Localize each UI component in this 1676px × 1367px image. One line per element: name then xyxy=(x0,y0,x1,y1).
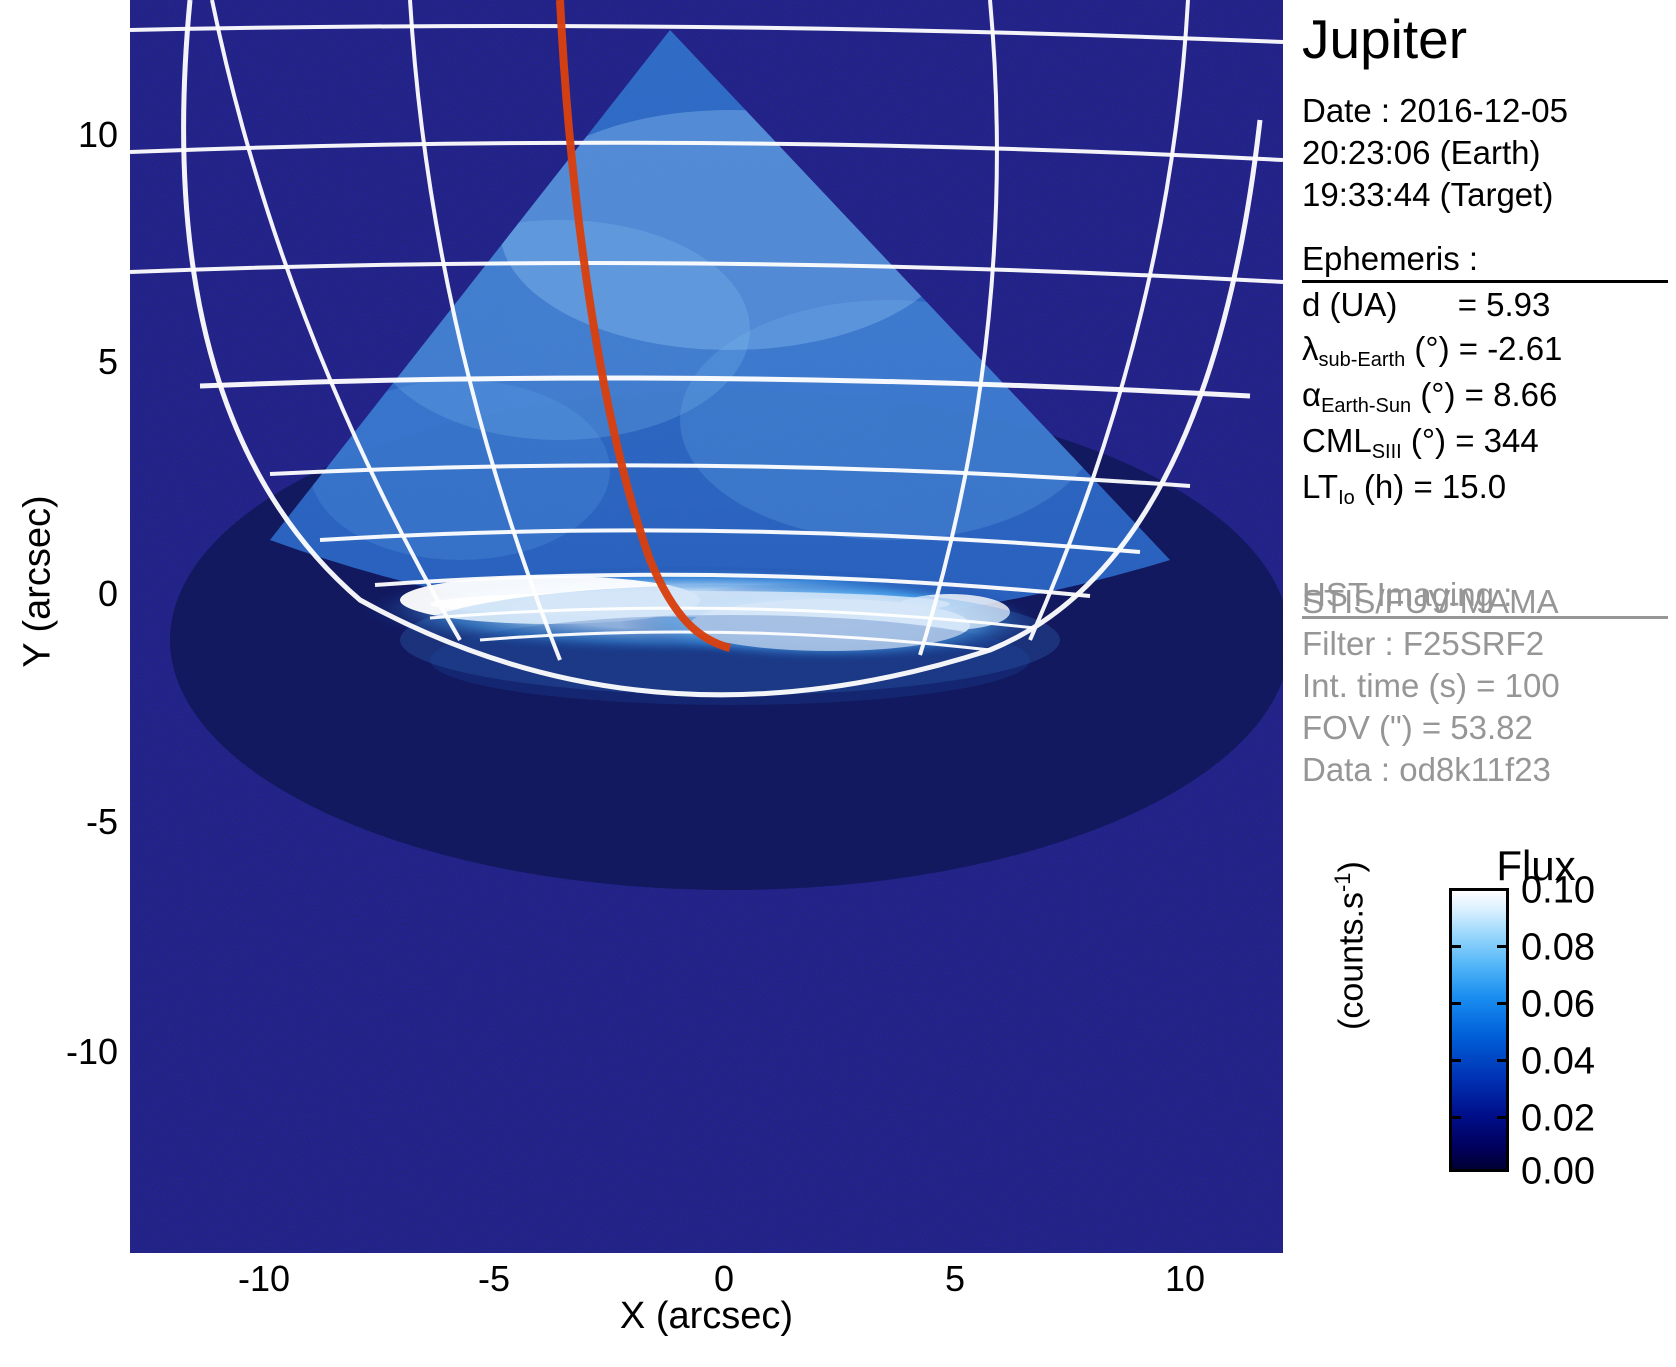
hst-field-of-view: FOV (") = 53.82 xyxy=(1302,709,1533,747)
ephemeris-subscript: Io xyxy=(1338,487,1355,509)
ephemeris-symbol: λ xyxy=(1302,330,1319,367)
colorbar-tick xyxy=(1449,945,1509,948)
aurora-image-panel xyxy=(130,0,1283,1253)
colorbar-tick-label: 0.04 xyxy=(1521,1041,1595,1084)
page-title: Jupiter xyxy=(1302,12,1467,67)
y-tick-label: 10 xyxy=(8,114,118,156)
ephemeris-heading: Ephemeris : xyxy=(1302,240,1676,278)
y-tick-label: -10 xyxy=(8,1031,118,1073)
colorbar-tick-label: 0.10 xyxy=(1521,870,1595,913)
colorbar-unit-exponent: -1 xyxy=(1330,872,1355,892)
ephemeris-unit: (°) xyxy=(1414,330,1449,367)
colorbar-tick xyxy=(1449,1059,1509,1062)
ephemeris-unit: (h) xyxy=(1364,468,1404,505)
ephemeris-value: = 15.0 xyxy=(1413,468,1506,505)
background-noise xyxy=(130,0,1283,1253)
colorbar-tick-label: 0.08 xyxy=(1521,927,1595,970)
ephemeris-value: = 8.66 xyxy=(1465,376,1558,413)
observation-time-target: 19:33:44 (Target) xyxy=(1302,176,1553,214)
flux-colorbar xyxy=(1449,888,1509,1172)
colorbar-tick xyxy=(1449,1169,1509,1172)
ephemeris-symbol: LT xyxy=(1302,468,1338,505)
ephemeris-value: = 344 xyxy=(1455,422,1539,459)
observation-time-earth: 20:23:06 (Earth) xyxy=(1302,134,1540,172)
ephemeris-unit: (°) xyxy=(1411,422,1446,459)
x-axis-title-text: X (arcsec) xyxy=(130,1295,1283,1338)
y-tick-label: 5 xyxy=(8,341,118,383)
ephemeris-symbol: d xyxy=(1302,286,1320,323)
ephemeris-value: = 5.93 xyxy=(1458,286,1551,323)
x-tick-label: 0 xyxy=(714,1258,734,1300)
hst-data-id: Data : od8k11f23 xyxy=(1302,751,1551,789)
ephemeris-unit: (°) xyxy=(1420,376,1455,413)
colorbar-unit-prefix: (counts.s xyxy=(1332,892,1370,1030)
hst-filter: Filter : F25SRF2 xyxy=(1302,625,1544,663)
x-tick-label: -5 xyxy=(478,1258,510,1300)
colorbar-unit-suffix: ) xyxy=(1332,861,1370,872)
x-tick-label: 10 xyxy=(1165,1258,1205,1300)
ephemeris-subscript: Earth-Sun xyxy=(1321,395,1411,417)
colorbar-tick xyxy=(1449,1116,1509,1119)
ephemeris-symbol: α xyxy=(1302,376,1321,413)
colorbar-tick xyxy=(1449,1002,1509,1005)
y-tick-label: 0 xyxy=(8,573,118,615)
colorbar-tick xyxy=(1449,888,1509,891)
hst-instrument: STIS/FUV-MAMA xyxy=(1302,583,1559,621)
ephemeris-unit: (UA) xyxy=(1330,286,1398,323)
ephemeris-row-phase-angle: αEarth-Sun (°) = 8.66 xyxy=(1302,376,1557,419)
ephemeris-subscript: sub-Earth xyxy=(1319,349,1406,371)
colorbar-tick-label: 0.00 xyxy=(1521,1151,1595,1194)
ephemeris-row-cml: CMLSIII (°) = 344 xyxy=(1302,422,1539,465)
ephemeris-symbol: CML xyxy=(1302,422,1372,459)
colorbar-tick-label: 0.02 xyxy=(1521,1098,1595,1141)
ephemeris-value: = -2.61 xyxy=(1459,330,1563,367)
observation-date: Date : 2016-12-05 xyxy=(1302,92,1568,130)
ephemeris-subscript: SIII xyxy=(1372,441,1402,463)
ephemeris-row-distance: d (UA) = 5.93 xyxy=(1302,286,1550,324)
y-tick-label: -5 xyxy=(8,801,118,843)
x-tick-label: -10 xyxy=(238,1258,290,1300)
ephemeris-row-sub-earth-latitude: λsub-Earth (°) = -2.61 xyxy=(1302,330,1562,373)
colorbar-unit-label: (counts.s-1) xyxy=(1330,861,1371,1030)
x-tick-label: 5 xyxy=(945,1258,965,1300)
colorbar-tick-label: 0.06 xyxy=(1521,984,1595,1027)
ephemeris-row-io-local-time: LTIo (h) = 15.0 xyxy=(1302,468,1506,511)
hst-integration-time: Int. time (s) = 100 xyxy=(1302,667,1560,705)
